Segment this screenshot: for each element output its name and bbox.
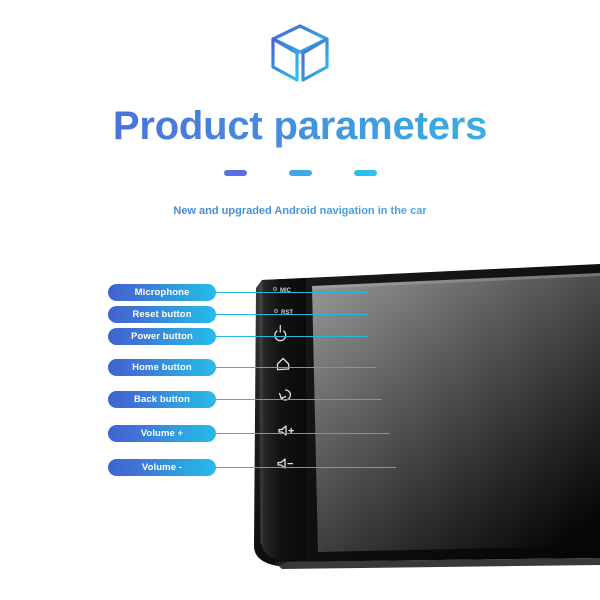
title-divider-dashes <box>0 170 600 176</box>
divider-dash-2 <box>289 170 312 176</box>
cube-outline-icon <box>267 22 333 89</box>
leader-line-microphone <box>216 292 368 294</box>
leader-line-volume-down <box>216 467 396 469</box>
callout-label-home[interactable]: Home button <box>108 359 216 376</box>
callout-label-reset[interactable]: Reset button <box>108 306 216 323</box>
leader-line-reset <box>216 314 368 316</box>
callout-reset[interactable]: Reset button <box>108 306 368 323</box>
callout-home[interactable]: Home button <box>108 359 376 376</box>
callout-label-power[interactable]: Power button <box>108 328 216 345</box>
product-parameters-page: Product parameters New and upgraded Andr… <box>0 0 600 600</box>
page-title: Product parameters <box>0 104 600 149</box>
logo-container <box>0 24 600 86</box>
callout-power[interactable]: Power button <box>108 328 368 345</box>
page-subtitle: New and upgraded Android navigation in t… <box>0 205 600 217</box>
callout-volume-up[interactable]: Volume + <box>108 425 390 442</box>
callout-label-volume-up[interactable]: Volume + <box>108 425 216 442</box>
callout-volume-down[interactable]: Volume - <box>108 459 396 476</box>
divider-dash-3 <box>354 170 377 176</box>
callout-label-volume-down[interactable]: Volume - <box>108 459 216 476</box>
callout-label-microphone[interactable]: Microphone <box>108 284 216 301</box>
callout-microphone[interactable]: Microphone <box>108 284 368 301</box>
leader-line-home <box>216 367 376 369</box>
leader-line-back <box>216 399 382 401</box>
callout-back[interactable]: Back button <box>108 391 382 408</box>
leader-line-power <box>216 336 368 338</box>
divider-dash-1 <box>224 170 247 176</box>
leader-line-volume-up <box>216 433 390 435</box>
callout-label-back[interactable]: Back button <box>108 391 216 408</box>
